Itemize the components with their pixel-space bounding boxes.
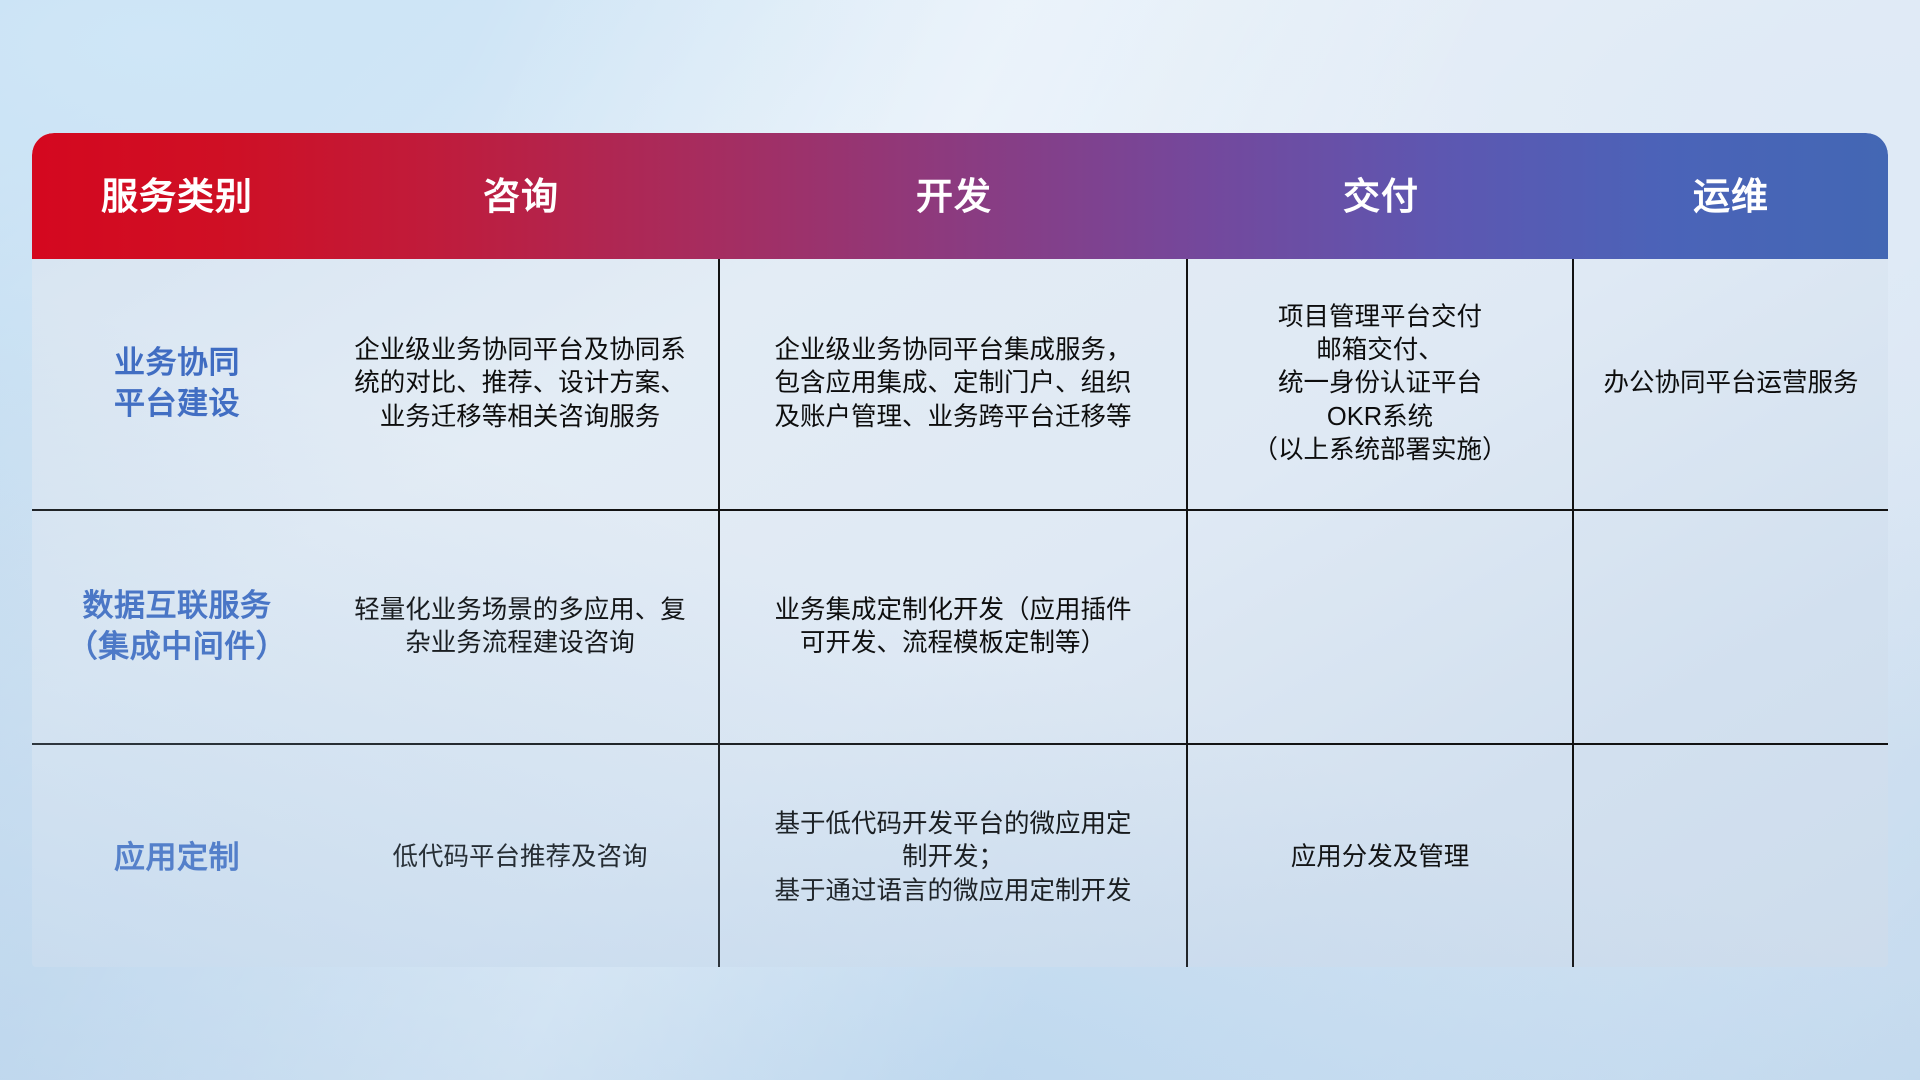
cell-development-row3: 基于低代码开发平台的微应用定 制开发； 基于通过语言的微应用定制开发 <box>720 745 1188 967</box>
cell-operations-row2 <box>1574 511 1888 743</box>
cell-development-row2: 业务集成定制化开发（应用插件 可开发、流程模板定制等） <box>720 511 1188 743</box>
cell-consulting-row2: 轻量化业务场景的多应用、复 杂业务流程建设咨询 <box>322 511 720 743</box>
header-cell-delivery: 交付 <box>1188 178 1574 215</box>
table-header-row: 服务类别 咨询 开发 交付 运维 <box>32 133 1888 259</box>
table-body: 业务协同 平台建设 企业级业务协同平台及协同系 统的对比、推荐、设计方案、 业务… <box>32 259 1888 967</box>
cell-development-row1: 企业级业务协同平台集成服务， 包含应用集成、定制门户、组织 及账户管理、业务跨平… <box>720 259 1188 509</box>
header-cell-development: 开发 <box>720 178 1188 215</box>
table-row: 业务协同 平台建设 企业级业务协同平台及协同系 统的对比、推荐、设计方案、 业务… <box>32 259 1888 509</box>
header-cell-operations: 运维 <box>1574 178 1888 215</box>
cell-operations-row3 <box>1574 745 1888 967</box>
table-row: 数据互联服务 （集成中间件） 轻量化业务场景的多应用、复 杂业务流程建设咨询 业… <box>32 509 1888 743</box>
cell-consulting-row1: 企业级业务协同平台及协同系 统的对比、推荐、设计方案、 业务迁移等相关咨询服务 <box>322 259 720 509</box>
cell-delivery-row3: 应用分发及管理 <box>1188 745 1574 967</box>
cell-operations-row1: 办公协同平台运营服务 <box>1574 259 1888 509</box>
service-matrix-table: 服务类别 咨询 开发 交付 运维 业务协同 平台建设 企业级业务协同平台及协同系… <box>32 133 1888 967</box>
cell-consulting-row3: 低代码平台推荐及咨询 <box>322 745 720 967</box>
slide-canvas: 服务类别 咨询 开发 交付 运维 业务协同 平台建设 企业级业务协同平台及协同系… <box>0 0 1920 1080</box>
row-label-business-collaboration: 业务协同 平台建设 <box>32 259 322 509</box>
header-cell-consulting: 咨询 <box>322 178 720 215</box>
table-row: 应用定制 低代码平台推荐及咨询 基于低代码开发平台的微应用定 制开发； 基于通过… <box>32 743 1888 967</box>
cell-delivery-row2 <box>1188 511 1574 743</box>
cell-delivery-row1: 项目管理平台交付 邮箱交付、 统一身份认证平台 OKR系统 （以上系统部署实施） <box>1188 259 1574 509</box>
row-label-app-customization: 应用定制 <box>32 745 322 967</box>
header-cell-service-category: 服务类别 <box>32 178 322 215</box>
row-label-data-integration: 数据互联服务 （集成中间件） <box>32 511 322 743</box>
